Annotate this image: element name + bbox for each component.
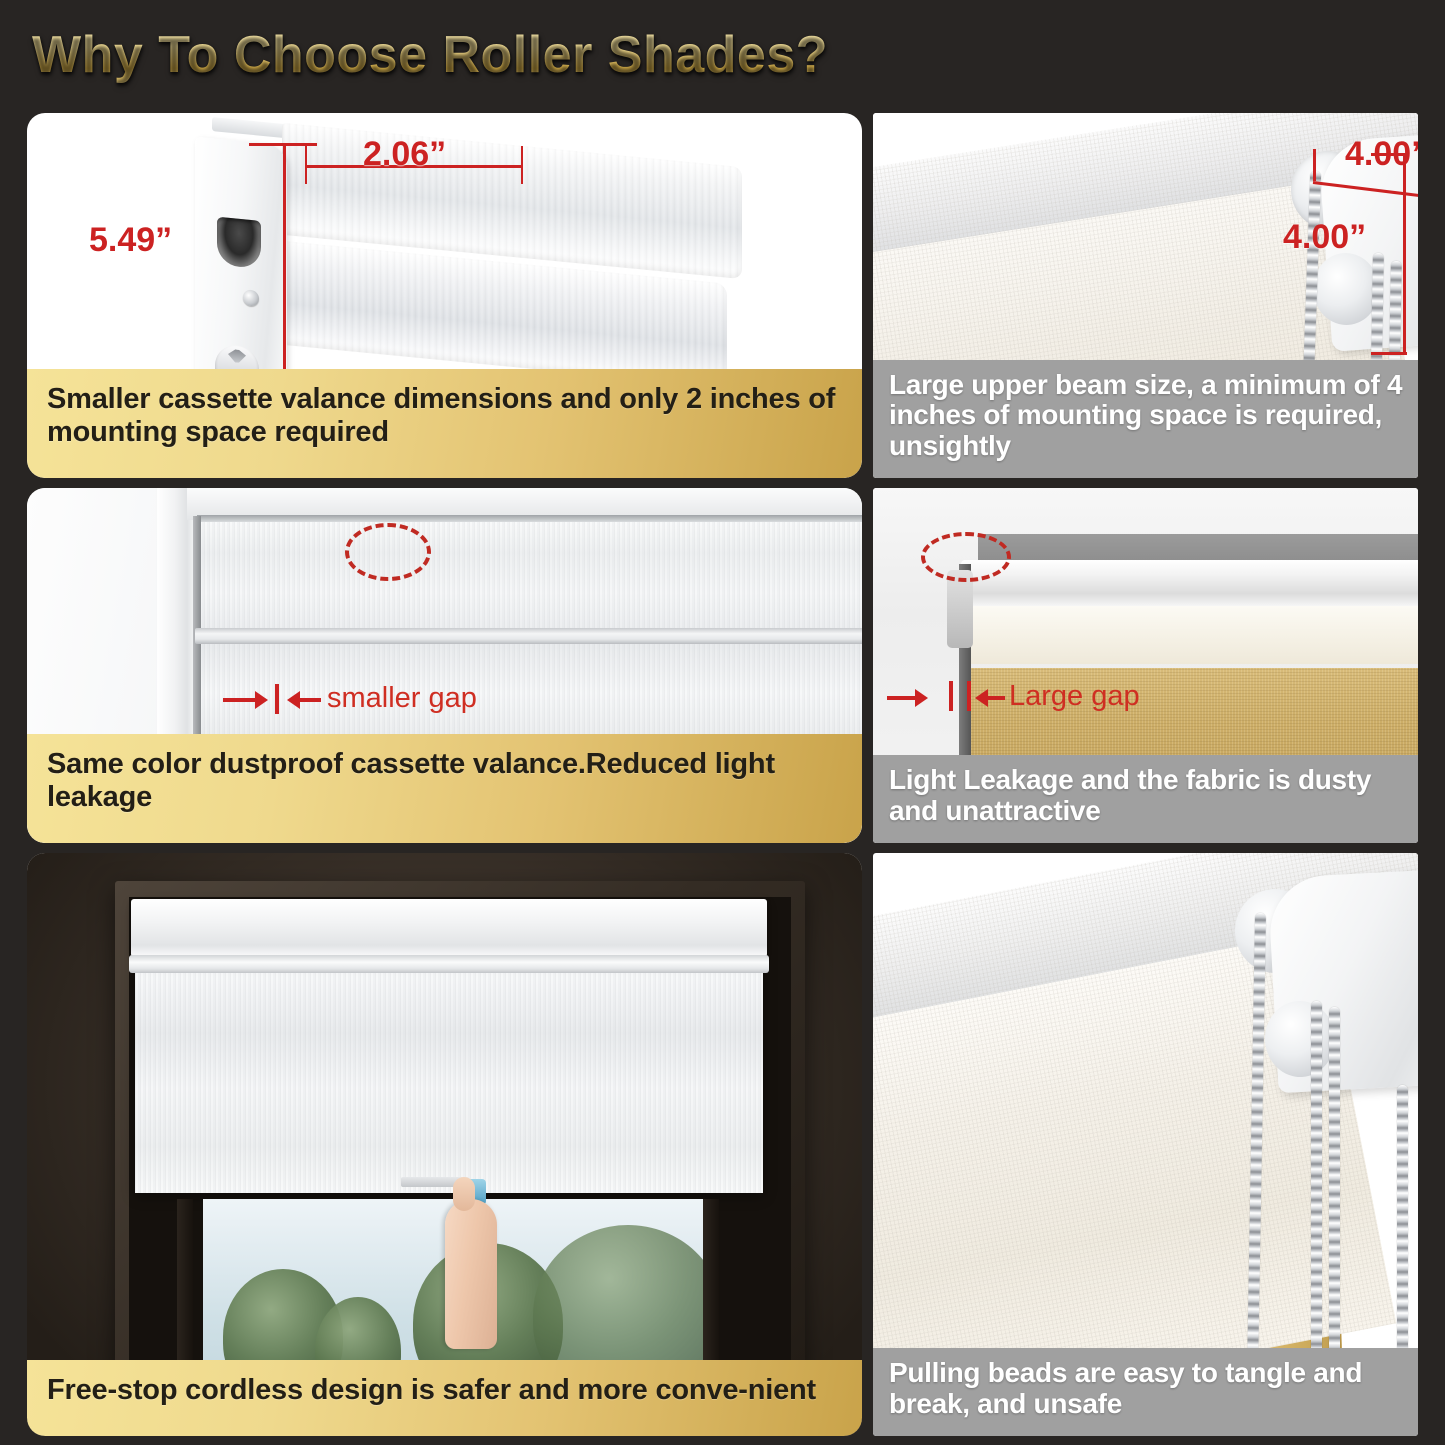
valance-bottom-rail — [129, 955, 769, 973]
dimension-label-height: 4.00” — [1283, 218, 1366, 257]
panel-smaller-cassette: 2.06” 5.49” Smaller cassette valance dim… — [27, 113, 862, 478]
gap-edge-marker-left — [949, 681, 953, 711]
caption-panel-5: Free-stop cordless design is safer and m… — [27, 1360, 862, 1436]
caption-panel-4: Light Leakage and the fabric is dusty an… — [873, 755, 1418, 843]
image-room-window-shade — [27, 853, 862, 1436]
shade-middle-rail — [195, 628, 862, 644]
panel-pulling-beads: Pulling beads are easy to tangle and bre… — [873, 853, 1418, 1436]
bead-chain-2 — [1311, 1001, 1322, 1373]
gap-arrow-left-shaft — [223, 698, 257, 702]
bead-chain-4 — [1397, 1085, 1408, 1373]
dimension-label-width: 2.06” — [363, 135, 446, 174]
gap-edge-marker — [275, 684, 279, 714]
window-frame — [115, 881, 805, 1371]
gap-arrow-left-head-icon — [915, 689, 928, 707]
caption-panel-2: Large upper beam size, a minimum of 4 in… — [873, 360, 1418, 478]
gap-arrow-left-head-icon — [255, 691, 268, 709]
panel-dustproof-valance: smaller gap Same color dustproof cassett… — [27, 488, 862, 843]
dim-height-tick-top — [249, 143, 317, 146]
cassette-valance — [131, 899, 767, 957]
highlight-ellipse-icon — [345, 523, 431, 581]
caption-panel-3: Same color dustproof cassette valance.Re… — [27, 734, 862, 843]
gap-label-large: Large gap — [1009, 680, 1140, 713]
dim-height-tick-bottom — [1371, 352, 1407, 355]
dim-height-tick-top — [1371, 153, 1407, 156]
panel-light-leakage: Large gap Light Leakage and the fabric i… — [873, 488, 1418, 843]
dimension-label-height: 5.49” — [89, 221, 172, 260]
hand-pulling-shade — [445, 1199, 497, 1349]
gap-arrow-right-shaft — [987, 696, 1005, 700]
gap-edge-marker-right — [967, 681, 971, 711]
gap-arrow-right-shaft — [299, 698, 321, 702]
end-cap-screw-icon — [243, 289, 259, 307]
gap-arrow-left-shaft — [887, 696, 917, 700]
caption-panel-6: Pulling beads are easy to tangle and bre… — [873, 1348, 1418, 1436]
dim-width-tick-left — [1313, 149, 1316, 181]
valance-body — [222, 113, 742, 398]
roller-tube — [961, 560, 1418, 608]
dim-width-tick-right — [521, 146, 523, 184]
knob-screw-icon — [228, 349, 246, 364]
gap-label-smaller: smaller gap — [327, 682, 477, 715]
page-title: Why To Choose Roller Shades? — [32, 25, 828, 85]
valance-end-cap — [195, 137, 287, 406]
page-header: Why To Choose Roller Shades? — [0, 0, 1445, 110]
highlight-ellipse-icon — [921, 532, 1011, 582]
cream-fabric-band — [971, 606, 1418, 664]
end-cap-slot — [217, 217, 261, 269]
panel-large-upper-beam: 4.00” 4.00” Large upper beam size, a min… — [873, 113, 1418, 478]
caption-panel-1: Smaller cassette valance dimensions and … — [27, 369, 862, 478]
bead-chain-3 — [1329, 1007, 1340, 1373]
dim-height-line — [1403, 153, 1406, 355]
panel-cordless-design: Free-stop cordless design is safer and m… — [27, 853, 862, 1436]
shade-header-line — [197, 515, 862, 522]
